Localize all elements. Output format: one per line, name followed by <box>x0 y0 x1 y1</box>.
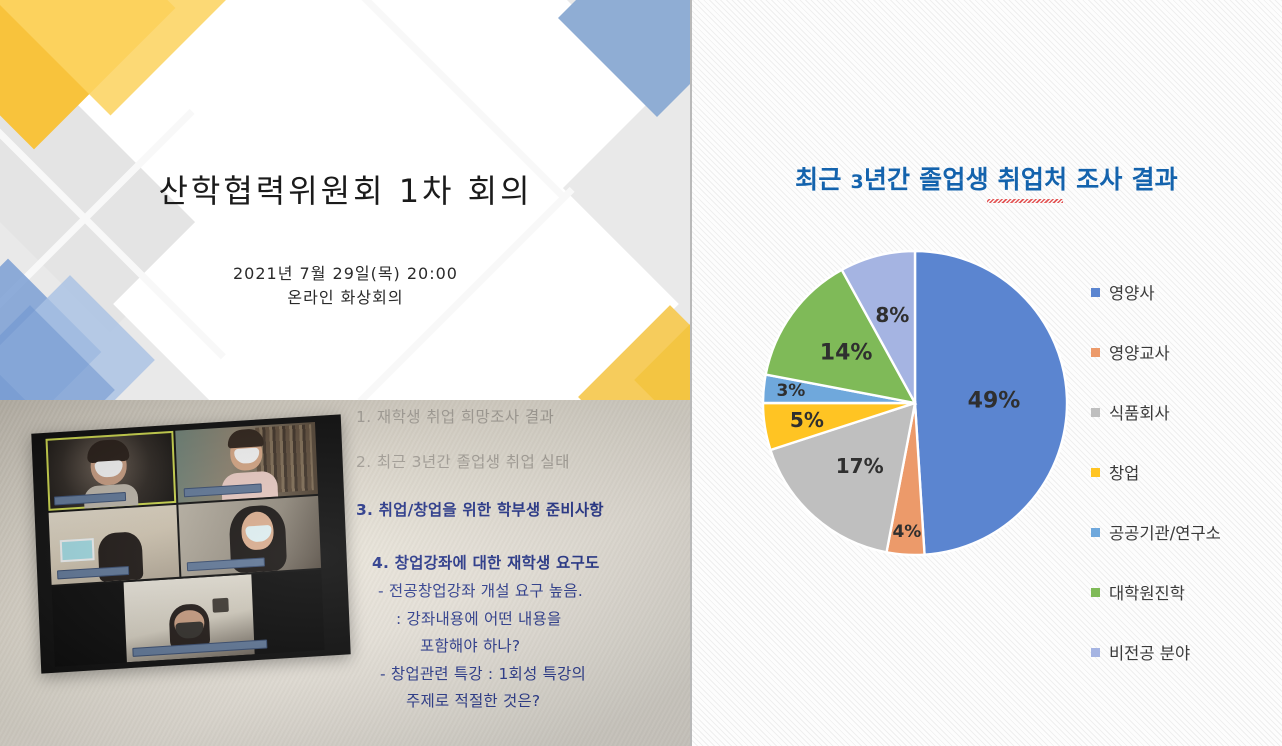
pie-slice-value: 17% <box>836 454 884 478</box>
legend-item[interactable]: 비전공 분야 <box>1091 622 1281 682</box>
meeting-photo: 1. 재학생 취업 희망조사 결과 2. 최근 3년간 졸업생 취업 실태 3.… <box>0 400 691 746</box>
title-slide: 산학협력위원회 1차 회의 2021년 7월 29일(목) 20:00 온라인 … <box>0 0 691 400</box>
slide-screenshot: 산학협력위원회 1차 회의 2021년 7월 29일(목) 20:00 온라인 … <box>0 0 1282 746</box>
legend-item[interactable]: 식품회사 <box>1091 382 1281 442</box>
spellcheck-underline-icon <box>987 199 1063 203</box>
pie-chart-svg <box>760 248 1070 558</box>
legend-label: 공공기관/연구소 <box>1109 520 1221 544</box>
legend-item[interactable]: 대학원진학 <box>1091 562 1281 622</box>
page-title: 산학협력위원회 1차 회의 <box>0 166 691 212</box>
slide-subtitle-location: 온라인 화상회의 <box>0 286 691 310</box>
legend-item[interactable]: 영양교사 <box>1091 322 1281 382</box>
pie-slice-value: 3% <box>776 381 805 401</box>
legend-label: 식품회사 <box>1109 400 1170 424</box>
legend-label: 영양사 <box>1109 280 1155 304</box>
pie-slice-value: 8% <box>875 303 909 327</box>
pie-slice-value: 14% <box>820 340 873 365</box>
legend-item[interactable]: 영양사 <box>1091 262 1281 322</box>
legend-label: 대학원진학 <box>1109 580 1185 604</box>
legend-swatch-icon <box>1091 288 1100 297</box>
chart-title-suffix: 년간 졸업생 취업처 조사 결과 <box>864 165 1178 194</box>
legend-label: 영양교사 <box>1109 340 1170 364</box>
legend-label: 창업 <box>1109 460 1139 484</box>
legend-item[interactable]: 공공기관/연구소 <box>1091 502 1281 562</box>
slide-subtitle: 2021년 7월 29일(목) 20:00 온라인 화상회의 <box>0 262 691 310</box>
slide-subtitle-datetime: 2021년 7월 29일(목) 20:00 <box>0 262 691 286</box>
legend-label: 비전공 분야 <box>1109 640 1190 664</box>
pie-chart: 49%4%17%5%3%14%8% <box>760 248 1070 558</box>
legend-swatch-icon <box>1091 468 1100 477</box>
chart-legend: 영양사영양교사식품회사창업공공기관/연구소대학원진학비전공 분야 <box>1091 262 1281 682</box>
legend-swatch-icon <box>1091 408 1100 417</box>
pie-slice-value: 4% <box>892 522 921 542</box>
photo-vignette <box>0 400 691 746</box>
chart-title: 최근 3년간 졸업생 취업처 조사 결과 <box>691 160 1282 196</box>
legend-swatch-icon <box>1091 528 1100 537</box>
chart-title-number: 3 <box>850 171 863 193</box>
legend-item[interactable]: 창업 <box>1091 442 1281 502</box>
chart-title-prefix: 최근 <box>795 165 850 194</box>
pie-slice-value: 49% <box>968 388 1021 413</box>
chart-slide: 최근 3년간 졸업생 취업처 조사 결과 49%4%17%5%3%14%8% 영… <box>691 0 1282 746</box>
legend-swatch-icon <box>1091 648 1100 657</box>
legend-swatch-icon <box>1091 348 1100 357</box>
panel-divider <box>690 0 692 746</box>
legend-swatch-icon <box>1091 588 1100 597</box>
pie-slice-value: 5% <box>790 408 824 432</box>
